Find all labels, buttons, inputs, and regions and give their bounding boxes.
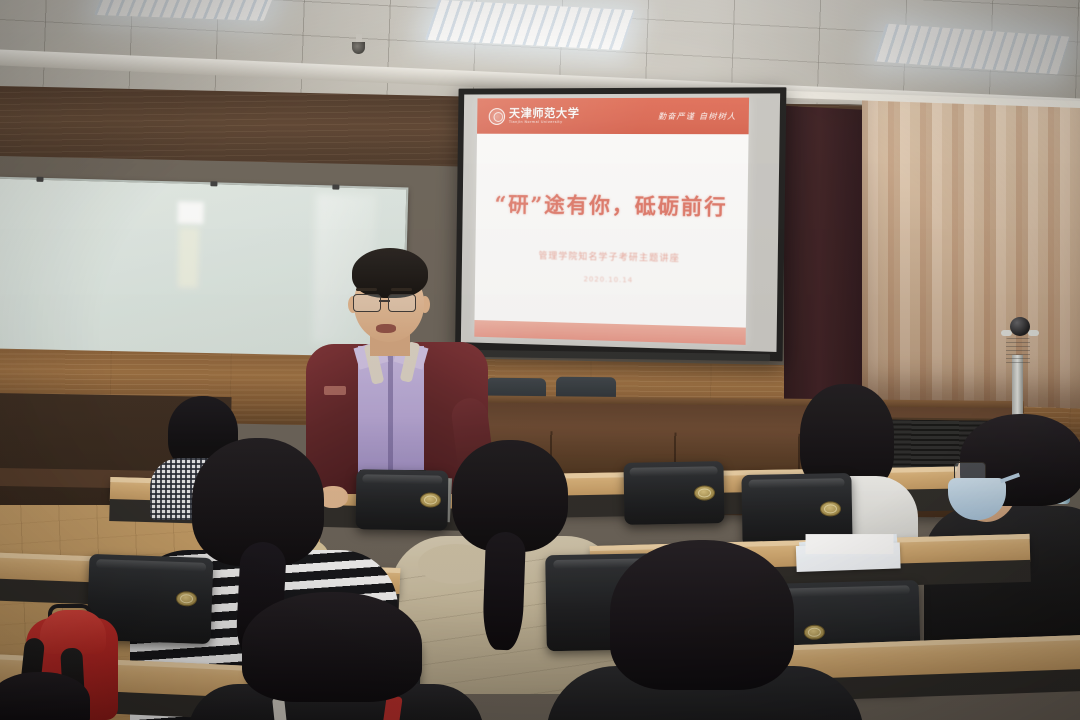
slide-title: “研”途有你，砥砺前行 — [476, 189, 748, 222]
whiteboard-clip — [36, 177, 43, 182]
tripod-camera-bracket-right — [1028, 330, 1039, 336]
slide-subtitle: 管理学院知名学子考研主题讲座 — [475, 247, 747, 265]
whiteboard-clip — [210, 181, 217, 186]
hair — [242, 592, 422, 702]
chair-medallion-icon — [820, 501, 841, 516]
curtain-shading — [862, 96, 1080, 409]
student-red-stripe-hoodie — [196, 592, 476, 720]
whiteboard-window-glare — [177, 201, 204, 224]
hair — [0, 672, 90, 720]
eyeglasses-lens-right — [388, 294, 416, 312]
chair-highlight — [96, 559, 205, 572]
whiteboard-clip — [332, 184, 339, 189]
chair-highlight — [630, 466, 718, 477]
slide-date: 2020.10.14 — [475, 273, 746, 287]
student-black-hoodie-front — [560, 540, 850, 720]
jacket-chest-logo — [324, 386, 346, 395]
student-edge-left — [0, 672, 110, 720]
eyeglasses-bridge — [379, 300, 390, 302]
ponytail — [482, 531, 526, 650]
dark-curtain — [784, 106, 872, 411]
projection-screen: 天津师范大学 Tianjin Normal University 勤奋严谨 自树… — [455, 87, 786, 361]
shirt-placket — [388, 348, 393, 472]
slide-header-band: 天津师范大学 Tianjin Normal University 勤奋严谨 自树… — [477, 98, 749, 135]
coat-hood — [418, 544, 494, 584]
mouth — [376, 324, 396, 333]
presentation-slide: 天津师范大学 Tianjin Normal University 勤奋严谨 自树… — [474, 98, 749, 345]
tripod-camera-lens-icon — [1010, 317, 1030, 336]
screen-surface: 天津师范大学 Tianjin Normal University 勤奋严谨 自树… — [461, 93, 780, 352]
university-seal-icon — [489, 108, 506, 125]
tripod-camera-body — [1006, 338, 1030, 364]
hair — [610, 540, 794, 690]
university-logo: 天津师范大学 Tianjin Normal University — [489, 108, 580, 125]
chair-medallion-icon — [694, 485, 715, 500]
chair — [623, 461, 724, 525]
chair-highlight — [748, 478, 845, 489]
eyeglasses-lens-left — [353, 294, 381, 312]
university-motto: 勤奋严谨 自树树人 — [658, 110, 737, 121]
eyebrow-right — [391, 288, 412, 291]
slide-footer-band — [474, 320, 746, 345]
university-name-cn: 天津师范大学 — [509, 108, 580, 119]
whiteboard-glare-streak — [178, 227, 200, 288]
student-masked-glasses — [930, 414, 1080, 644]
lecture-room-photo: 天津师范大学 Tianjin Normal University 勤奋严谨 自树… — [0, 0, 1080, 720]
chair-medallion-icon — [176, 591, 198, 607]
eyebrow-left — [356, 288, 377, 291]
university-name-en: Tianjin Normal University — [509, 121, 580, 125]
